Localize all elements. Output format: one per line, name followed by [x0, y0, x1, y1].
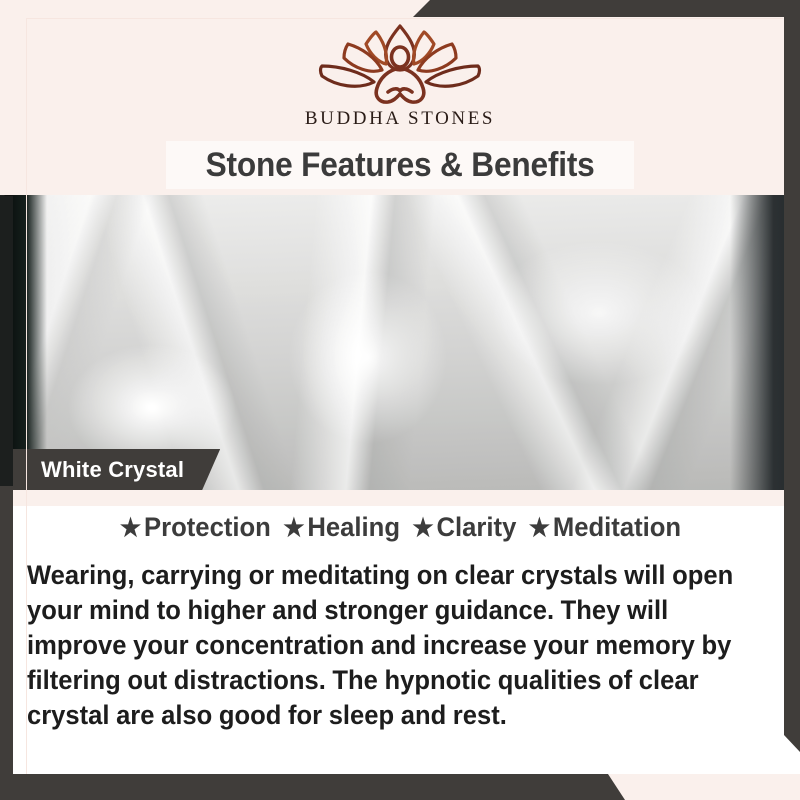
page-title: Stone Features & Benefits: [206, 146, 595, 185]
poster-root: BUDDHA STONES Stone Features & Benefits …: [0, 0, 800, 800]
star-icon: ★: [120, 514, 141, 542]
lotus-meditation-icon: [314, 18, 486, 106]
accent-strip: [13, 490, 784, 506]
benefit-label-2: Clarity: [437, 512, 517, 542]
frame-edge-right: [784, 17, 800, 752]
benefit-item-0: ★Protection: [113, 512, 276, 542]
brand-name: BUDDHA STONES: [305, 108, 495, 130]
frame-edge-left: [0, 486, 13, 774]
star-icon: ★: [412, 514, 433, 542]
stone-photo: [0, 195, 800, 490]
description-text: Wearing, carrying or meditating on clear…: [27, 558, 747, 733]
brand-logo: BUDDHA STONES: [0, 18, 800, 130]
stone-name-tag: White Crystal: [13, 449, 220, 490]
benefit-label-1: Healing: [307, 512, 400, 542]
benefit-item-2: ★Clarity: [406, 512, 522, 542]
benefit-item-1: ★Healing: [277, 512, 406, 542]
frame-edge-bottom: [0, 774, 800, 800]
benefit-label-0: Protection: [144, 512, 271, 542]
title-banner: Stone Features & Benefits: [166, 141, 634, 189]
benefit-label-3: Meditation: [553, 512, 681, 542]
benefit-item-3: ★Meditation: [522, 512, 687, 542]
frame-edge-left-upper: [0, 196, 13, 486]
stone-photo-texture: [0, 195, 800, 490]
star-icon: ★: [529, 514, 550, 542]
content-area: ★Protection★Healing★Clarity★Meditation W…: [0, 490, 800, 774]
star-icon: ★: [283, 514, 304, 542]
benefits-row: ★Protection★Healing★Clarity★Meditation: [20, 512, 780, 543]
stone-name-label: White Crystal: [41, 457, 184, 483]
photo-left-shadow: [13, 195, 47, 490]
